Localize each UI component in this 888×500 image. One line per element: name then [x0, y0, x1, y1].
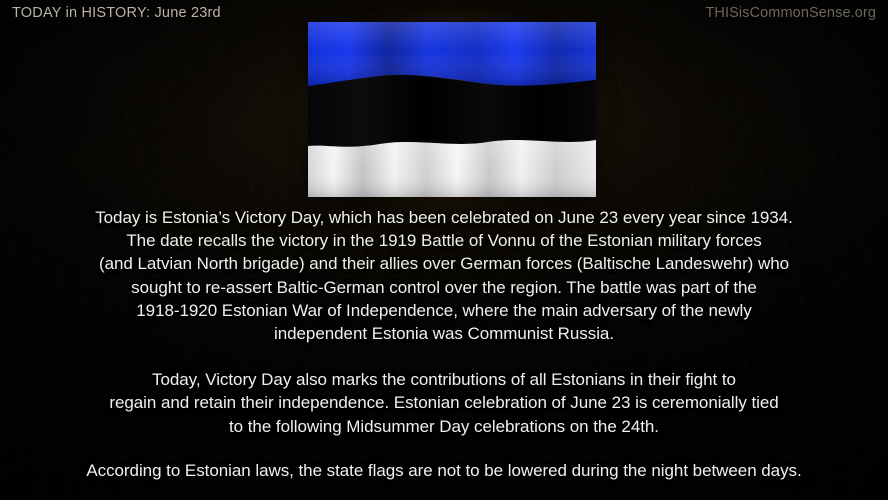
paragraph-1-line-2: The date recalls the victory in the 1919…	[6, 229, 882, 252]
paragraph-spacer-2	[0, 438, 888, 459]
paragraph-3-line-1: According to Estonian laws, the state fl…	[6, 459, 882, 482]
paragraph-1-line-1: Today is Estonia’s Victory Day, which ha…	[6, 206, 882, 229]
article-body: Today is Estonia’s Victory Day, which ha…	[0, 206, 888, 482]
paragraph-2-line-3: to the following Midsummer Day celebrati…	[6, 415, 882, 438]
paragraph-2: Today, Victory Day also marks the contri…	[0, 368, 888, 438]
paragraph-1: Today is Estonia’s Victory Day, which ha…	[0, 206, 888, 345]
history-card: TODAY in HISTORY: June 23rd THISisCommon…	[0, 0, 888, 500]
flag-blue-shading	[308, 22, 596, 86]
page-title: TODAY in HISTORY: June 23rd	[12, 5, 221, 21]
paragraph-2-line-2: regain and retain their independence. Es…	[6, 391, 882, 414]
paragraph-1-line-4: sought to re-assert Baltic-German contro…	[6, 276, 882, 299]
paragraph-3: According to Estonian laws, the state fl…	[0, 459, 888, 482]
estonia-flag-image	[308, 22, 596, 197]
brand-watermark: THISisCommonSense.org	[705, 5, 876, 21]
paragraph-spacer-1	[0, 345, 888, 368]
paragraph-1-line-6: independent Estonia was Communist Russia…	[6, 322, 882, 345]
paragraph-1-line-5: 1918-1920 Estonian War of Independence, …	[6, 299, 882, 322]
paragraph-2-line-1: Today, Victory Day also marks the contri…	[6, 368, 882, 391]
paragraph-1-line-3: (and Latvian North brigade) and their al…	[6, 252, 882, 275]
estonia-flag	[308, 22, 596, 197]
header-bar: TODAY in HISTORY: June 23rd THISisCommon…	[0, 0, 888, 26]
flag-black-stripe	[308, 75, 596, 147]
flag-white-shading	[308, 140, 596, 197]
